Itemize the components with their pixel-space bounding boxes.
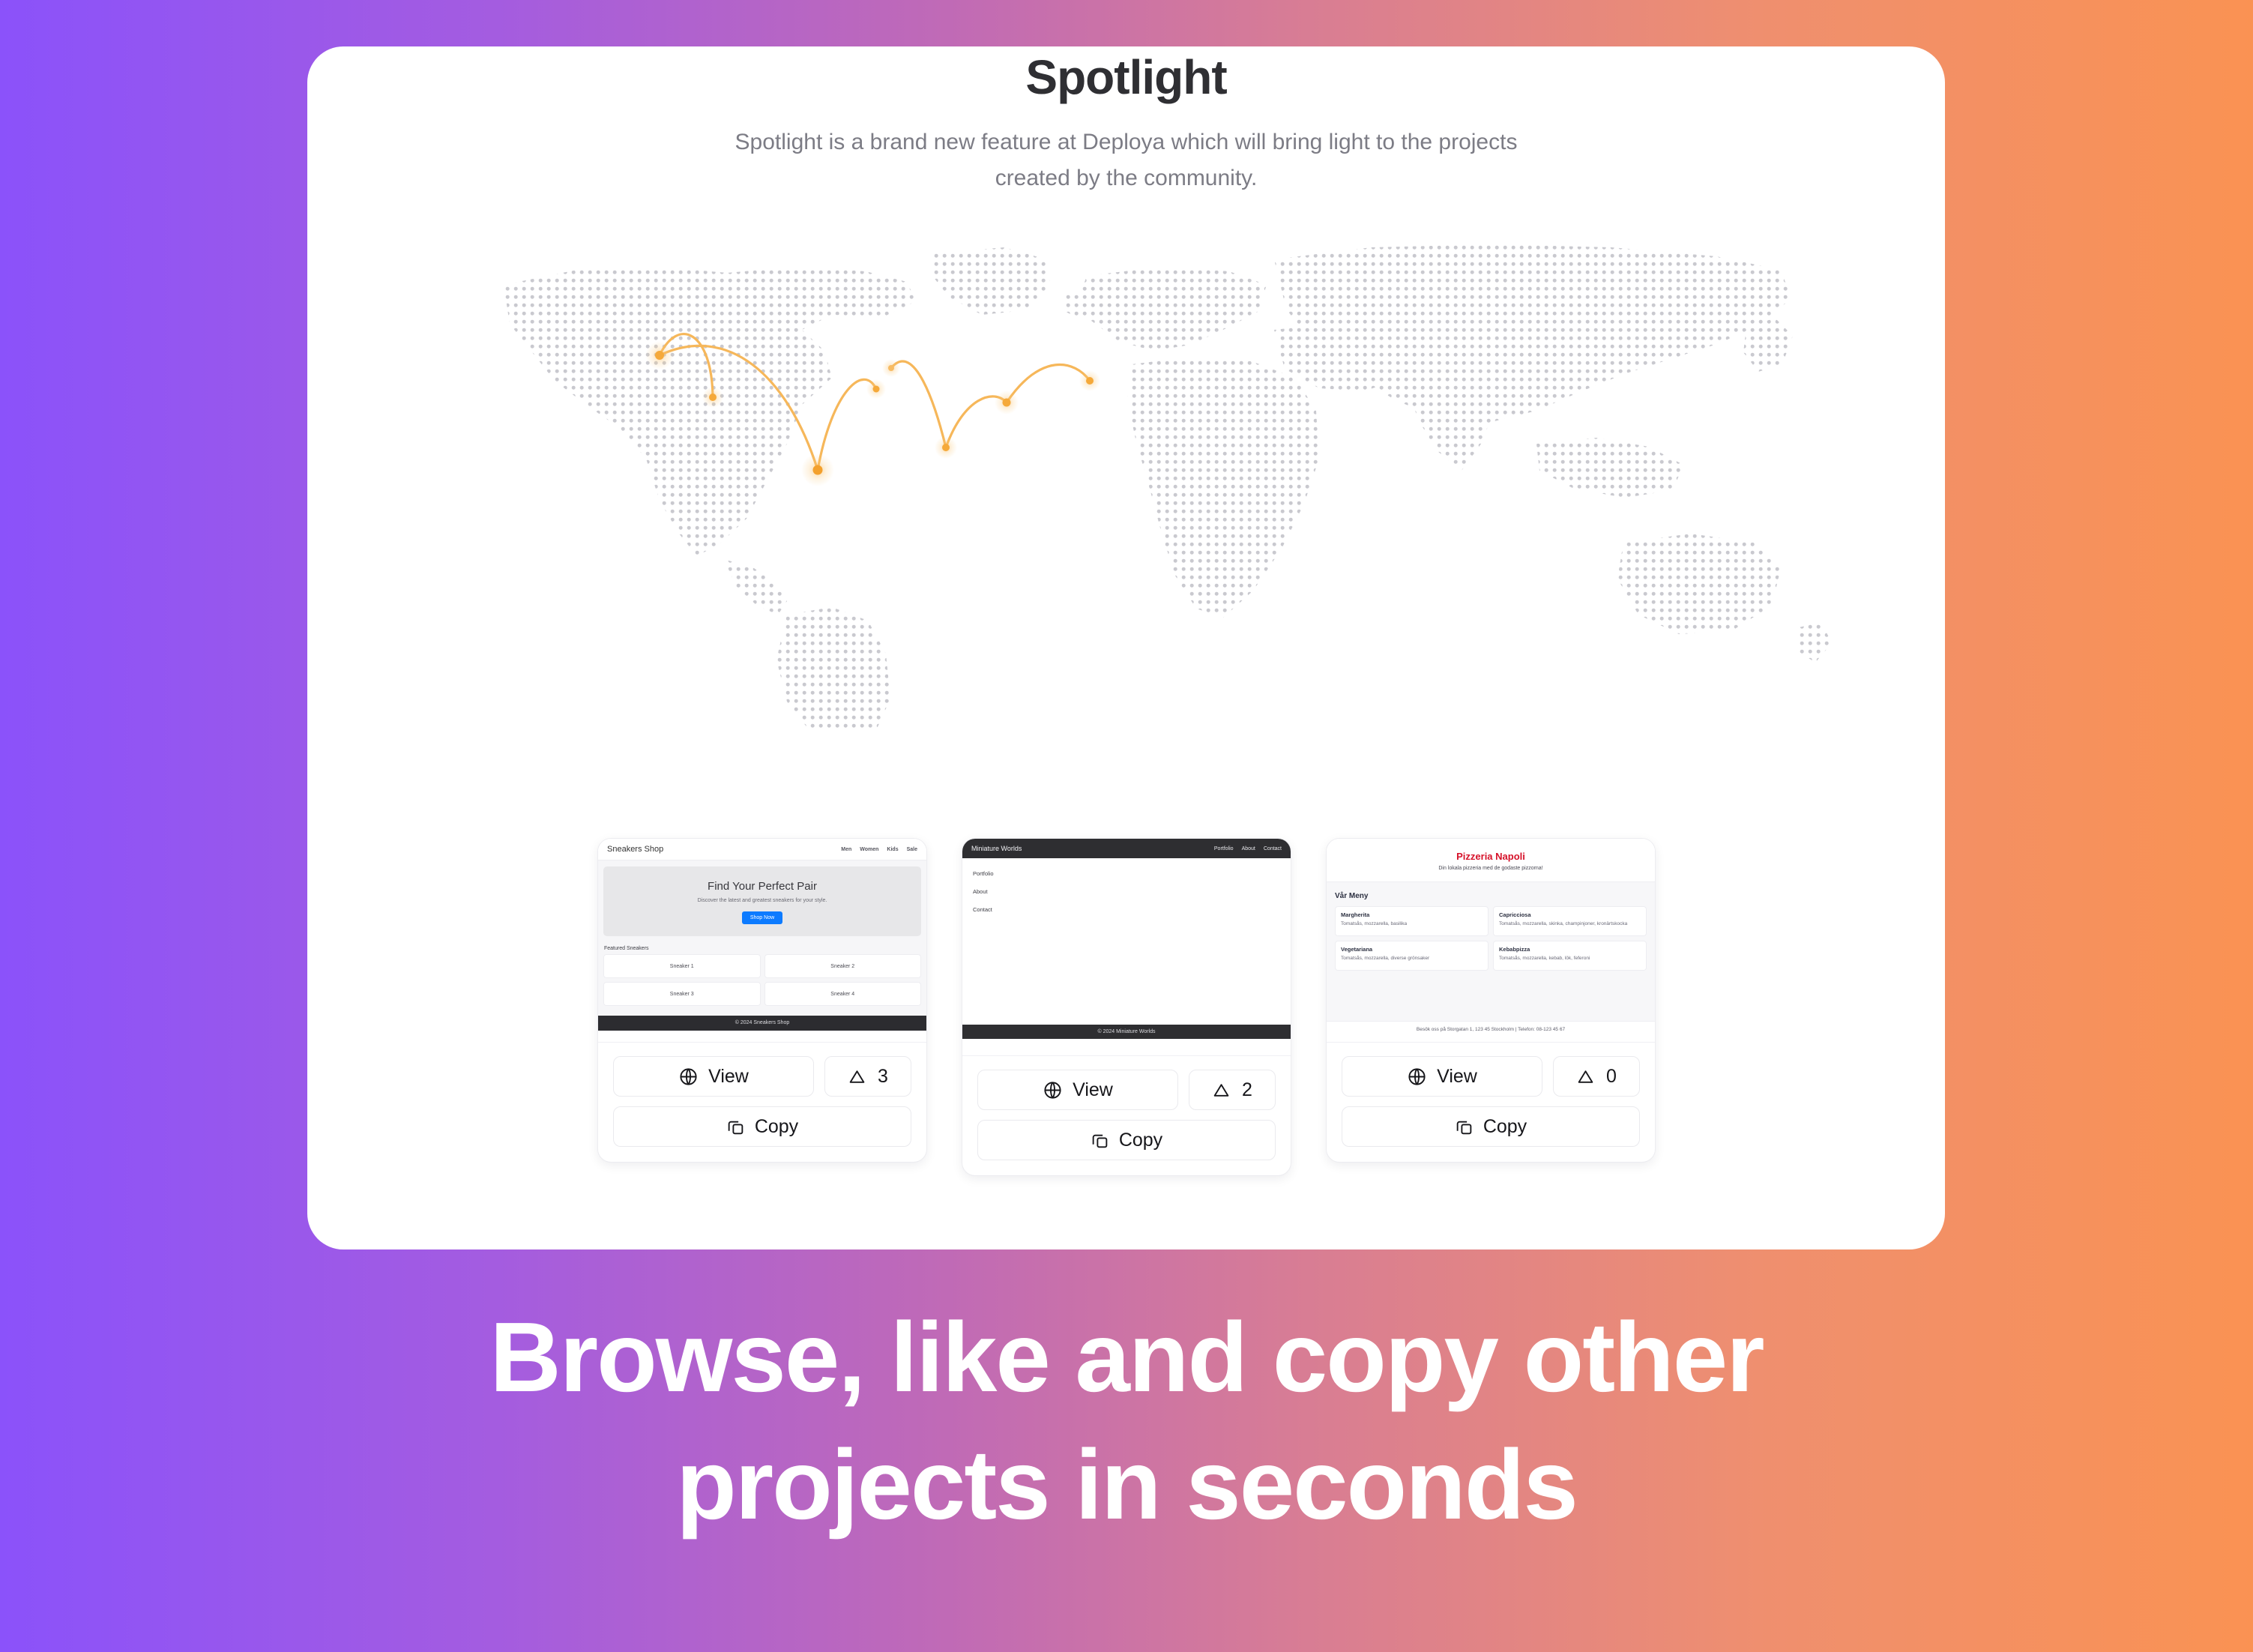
menu-item-name: Vegetariana	[1341, 946, 1483, 953]
globe-icon	[678, 1067, 699, 1087]
promo-headline: Browse, like and copy other projects in …	[0, 1308, 2253, 1534]
preview-footer: © 2024 Sneakers Shop	[598, 1016, 926, 1031]
promo-headline-line-1: Browse, like and copy other	[489, 1302, 1763, 1412]
preview-hero-subtitle: Discover the latest and greatest sneaker…	[611, 898, 914, 903]
preview-header: Pizzeria Napoli Din lokala pizzeria med …	[1327, 839, 1655, 882]
panel-header: Spotlight Spotlight is a brand new featu…	[307, 46, 1945, 196]
preview-body: Find Your Perfect Pair Discover the late…	[598, 860, 926, 1016]
view-button[interactable]: View	[1342, 1056, 1542, 1097]
preview-footer: Besök oss på Storgatan 1, 123 45 Stockho…	[1327, 1021, 1655, 1037]
preview-footer: © 2024 Miniature Worlds	[962, 1025, 1291, 1039]
copy-icon	[1455, 1118, 1474, 1136]
project-preview-miniature-worlds: Miniature Worlds Portfolio About Contact…	[962, 839, 1291, 1056]
like-count: 2	[1242, 1079, 1252, 1101]
card-actions: View 3	[598, 1043, 926, 1162]
promo-headline-line-2: projects in seconds	[0, 1435, 2253, 1534]
view-button-label: View	[708, 1066, 749, 1088]
world-map-svg	[307, 204, 1945, 729]
copy-button[interactable]: Copy	[977, 1120, 1276, 1160]
triangle-up-icon	[1576, 1067, 1595, 1086]
globe-icon	[1407, 1067, 1427, 1087]
project-preview-sneakers-shop: Sneakers Shop Men Women Kids Sale Find Y…	[598, 839, 926, 1043]
view-button[interactable]: View	[613, 1056, 814, 1097]
copy-icon	[726, 1118, 745, 1136]
preview-featured-grid: Sneaker 1 Sneaker 2 Sneaker 3 Sneaker 4	[603, 954, 921, 1006]
menu-item-desc: Tomatsås, mozzarella, skinka, champinjon…	[1499, 920, 1641, 927]
view-button-label: View	[1437, 1066, 1477, 1088]
copy-button-label: Copy	[1119, 1130, 1162, 1151]
globe-icon	[1043, 1080, 1063, 1100]
preview-nav-links: Men Women Kids Sale	[841, 847, 917, 852]
preview-body: Vår Meny Margherita Tomatsås, mozzarella…	[1327, 882, 1655, 1021]
preview-tile: Sneaker 3	[603, 982, 761, 1006]
copy-button[interactable]: Copy	[1342, 1106, 1640, 1147]
preview-nav-links: Portfolio About Contact	[1214, 846, 1282, 851]
menu-item: Capricciosa Tomatsås, mozzarella, skinka…	[1493, 906, 1647, 936]
like-button[interactable]: 0	[1553, 1056, 1640, 1097]
menu-item-name: Kebabpizza	[1499, 946, 1641, 953]
page-title: Spotlight	[307, 51, 1945, 103]
card-actions: View 2	[962, 1056, 1291, 1175]
like-count: 3	[878, 1066, 888, 1088]
preview-brand: Sneakers Shop	[607, 845, 663, 854]
menu-item-desc: Tomatsås, mozzarella, diverse grönsaker	[1341, 955, 1483, 962]
preview-hero: Find Your Perfect Pair Discover the late…	[603, 866, 921, 936]
preview-nav-item-sale: Sale	[907, 847, 917, 852]
preview-brand: Miniature Worlds	[971, 845, 1022, 852]
menu-item-name: Margherita	[1341, 911, 1483, 918]
triangle-up-icon	[1212, 1081, 1231, 1100]
menu-item-desc: Tomatsås, mozzarella, basilika	[1341, 920, 1483, 927]
preview-list-item: Contact	[973, 906, 1280, 913]
preview-hero-title: Find Your Perfect Pair	[611, 880, 914, 893]
spotlight-panel: Spotlight Spotlight is a brand new featu…	[307, 46, 1945, 1249]
preview-featured-label: Featured Sneakers	[604, 946, 921, 951]
like-button[interactable]: 3	[824, 1056, 911, 1097]
preview-brand: Pizzeria Napoli	[1334, 851, 1647, 862]
project-card-sneakers-shop[interactable]: Sneakers Shop Men Women Kids Sale Find Y…	[597, 838, 927, 1163]
preview-list-item: About	[973, 888, 1280, 895]
preview-nav-item-portfolio: Portfolio	[1214, 846, 1234, 851]
copy-button-label: Copy	[755, 1116, 798, 1138]
preview-list-item: Portfolio	[973, 870, 1280, 877]
copy-button[interactable]: Copy	[613, 1106, 911, 1147]
preview-tagline: Din lokala pizzeria med de godaste pizzo…	[1334, 866, 1647, 871]
preview-nav-item-about: About	[1242, 846, 1255, 851]
like-count: 0	[1606, 1066, 1617, 1088]
menu-item-desc: Tomatsås, mozzarella, kebab, lök, fefero…	[1499, 955, 1641, 962]
preview-tile: Sneaker 4	[764, 982, 922, 1006]
copy-button-label: Copy	[1483, 1116, 1527, 1138]
preview-navbar: Miniature Worlds Portfolio About Contact	[962, 839, 1291, 858]
page-subtitle: Spotlight is a brand new feature at Depl…	[729, 124, 1524, 196]
view-button-label: View	[1073, 1079, 1113, 1101]
project-preview-pizzeria-napoli: Pizzeria Napoli Din lokala pizzeria med …	[1327, 839, 1655, 1043]
preview-navbar: Sneakers Shop Men Women Kids Sale	[598, 839, 926, 860]
project-card-list: Sneakers Shop Men Women Kids Sale Find Y…	[597, 838, 1656, 1176]
world-map	[307, 204, 1945, 729]
menu-item-name: Capricciosa	[1499, 911, 1641, 918]
preview-menu-grid: Margherita Tomatsås, mozzarella, basilik…	[1335, 906, 1647, 971]
preview-nav-item-men: Men	[841, 847, 851, 852]
menu-item: Kebabpizza Tomatsås, mozzarella, kebab, …	[1493, 941, 1647, 971]
card-actions: View 0	[1327, 1043, 1655, 1162]
preview-menu-heading: Vår Meny	[1335, 892, 1647, 900]
preview-nav-item-contact: Contact	[1264, 846, 1282, 851]
view-button[interactable]: View	[977, 1070, 1178, 1110]
map-dots	[307, 204, 1945, 729]
preview-tile: Sneaker 1	[603, 954, 761, 978]
triangle-up-icon	[848, 1067, 866, 1086]
menu-item: Vegetariana Tomatsås, mozzarella, divers…	[1335, 941, 1489, 971]
copy-icon	[1091, 1131, 1109, 1150]
preview-nav-item-women: Women	[860, 847, 878, 852]
preview-shop-now-button: Shop Now	[742, 911, 782, 924]
project-card-pizzeria-napoli[interactable]: Pizzeria Napoli Din lokala pizzeria med …	[1326, 838, 1656, 1163]
project-card-miniature-worlds[interactable]: Miniature Worlds Portfolio About Contact…	[962, 838, 1291, 1176]
like-button[interactable]: 2	[1189, 1070, 1276, 1110]
preview-tile: Sneaker 2	[764, 954, 922, 978]
menu-item: Margherita Tomatsås, mozzarella, basilik…	[1335, 906, 1489, 936]
preview-body: Portfolio About Contact	[962, 858, 1291, 1025]
preview-nav-item-kids: Kids	[887, 847, 898, 852]
